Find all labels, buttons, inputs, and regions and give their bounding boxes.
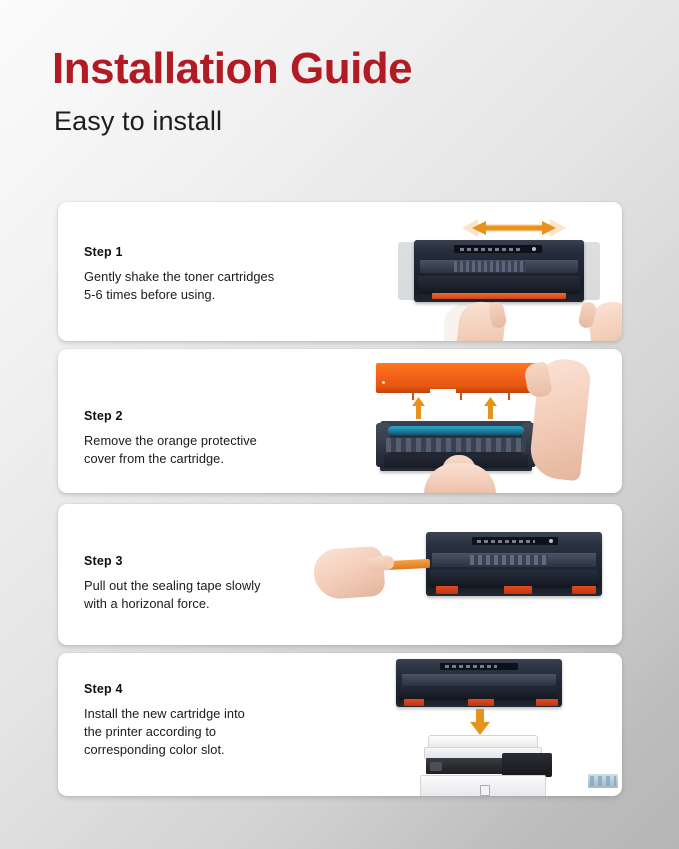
toner-cartridge bbox=[414, 240, 584, 302]
multifunction-printer bbox=[420, 735, 552, 796]
hand-left bbox=[312, 546, 385, 601]
cartridge-label-dot bbox=[549, 539, 553, 543]
cartridge-foot-center bbox=[468, 699, 494, 706]
cartridge-foot-center bbox=[504, 586, 532, 594]
step-2-text-block: Step 2 Remove the orange protective cove… bbox=[84, 409, 364, 468]
cartridge-group bbox=[414, 240, 594, 306]
cartridge-vents bbox=[454, 261, 526, 272]
cartridge-foot-left bbox=[436, 586, 458, 594]
cartridge-label bbox=[472, 537, 558, 545]
control-panel bbox=[502, 753, 552, 777]
shake-cartridge-illustration bbox=[354, 202, 622, 341]
fingernail bbox=[386, 558, 394, 568]
cartridge-foot-right bbox=[536, 699, 558, 706]
page-title: Installation Guide bbox=[52, 46, 612, 93]
cover-hole-left bbox=[382, 381, 385, 384]
cartridge-label bbox=[440, 663, 518, 670]
arrow-up-icon bbox=[484, 397, 497, 419]
cartridge-foot-right bbox=[572, 586, 596, 594]
cartridge-label-dot bbox=[532, 247, 536, 251]
page-subtitle: Easy to install bbox=[54, 107, 612, 137]
toner-cartridge bbox=[396, 659, 562, 707]
cover-lip bbox=[376, 387, 544, 393]
cartridge-mid-band bbox=[402, 674, 556, 686]
installation-guide-page: Installation Guide Easy to install Step … bbox=[0, 0, 679, 849]
step-card-4: Step 4 Install the new cartridge into th… bbox=[58, 653, 622, 796]
install-into-printer-illustration bbox=[358, 653, 622, 796]
cartridge-foot-left bbox=[404, 699, 424, 706]
step-card-1: Step 1 Gently shake the toner cartridges… bbox=[58, 202, 622, 341]
toner-cartridge bbox=[426, 532, 602, 596]
cyan-drum bbox=[388, 426, 524, 435]
step-2-label: Step 2 bbox=[84, 409, 364, 423]
step-1-label: Step 1 bbox=[84, 245, 364, 259]
step-1-description: Gently shake the toner cartridges 5-6 ti… bbox=[84, 268, 364, 304]
step-4-text-block: Step 4 Install the new cartridge into th… bbox=[84, 682, 364, 759]
cartridge-vents bbox=[470, 555, 548, 565]
step-2-description: Remove the orange protective cover from … bbox=[84, 432, 364, 468]
control-panel-touchscreen bbox=[588, 774, 618, 788]
orange-protective-cover bbox=[376, 363, 544, 389]
pull-sealing-tape-illustration bbox=[308, 504, 622, 645]
printer-front-button bbox=[480, 785, 490, 796]
cover-notch bbox=[430, 389, 456, 394]
printer-slot-knob bbox=[430, 762, 442, 771]
cartridge-body bbox=[386, 438, 526, 452]
step-card-2: Step 2 Remove the orange protective cove… bbox=[58, 349, 622, 493]
step-card-3: Step 3 Pull out the sealing tape slowly … bbox=[58, 504, 622, 645]
double-arrow-horizontal-icon bbox=[462, 218, 566, 238]
step-4-label: Step 4 bbox=[84, 682, 364, 696]
arrow-down-icon bbox=[470, 709, 490, 735]
cartridge-lower-body bbox=[418, 276, 580, 294]
cartridge-orange-strip bbox=[432, 293, 566, 299]
arrow-up-icon bbox=[412, 397, 425, 419]
step-1-text-block: Step 1 Gently shake the toner cartridges… bbox=[84, 245, 364, 304]
remove-protective-cover-illustration bbox=[338, 349, 622, 493]
cartridge-label bbox=[454, 245, 542, 253]
step-4-description: Install the new cartridge into the print… bbox=[84, 705, 364, 759]
header: Installation Guide Easy to install bbox=[52, 46, 612, 136]
